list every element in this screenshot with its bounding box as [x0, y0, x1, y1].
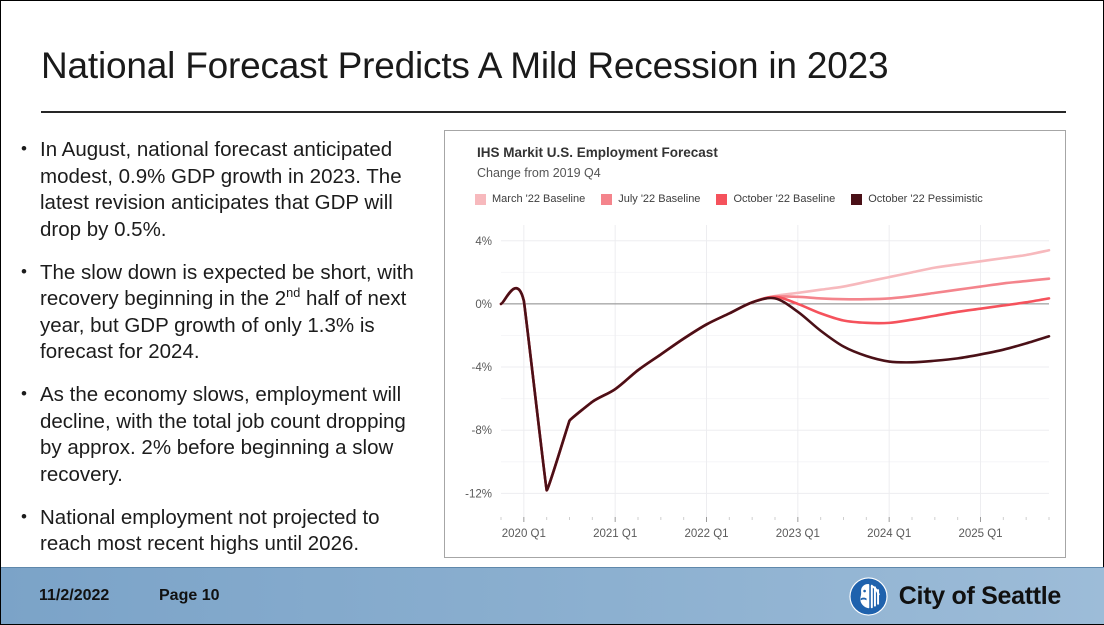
bullet-marker-icon: • [21, 260, 40, 284]
y-axis-tick-label: -4% [472, 362, 492, 374]
bullet-text: The slow down is expected be short, with… [40, 260, 431, 367]
slide-footer: 11/2/2022 Page 10 City of Seattle [1, 567, 1104, 624]
city-of-seattle-logo: City of Seattle [849, 577, 1061, 616]
legend-label: October '22 Pessimistic [868, 193, 983, 205]
bullet-marker-icon: • [21, 505, 40, 529]
x-axis-tick-label: 2025 Q1 [958, 528, 1002, 540]
bullet-marker-icon: • [21, 137, 40, 161]
legend-swatch-icon [475, 194, 486, 205]
y-axis-tick-label: 0% [475, 299, 492, 311]
bullet-recovery-2026: •National employment not projected to re… [21, 505, 431, 558]
legend-swatch-icon [851, 194, 862, 205]
x-axis-tick-label: 2020 Q1 [502, 528, 546, 540]
legend-item[interactable]: July '22 Baseline [601, 193, 700, 205]
page-title: National Forecast Predicts A Mild Recess… [41, 45, 1067, 87]
x-axis-tick-label: 2022 Q1 [684, 528, 728, 540]
y-axis-tick-label: 4% [475, 236, 492, 248]
bullet-text: As the economy slows, employment will de… [40, 382, 431, 489]
bullet-text: In August, national forecast anticipated… [40, 137, 431, 244]
x-axis-tick-label: 2023 Q1 [776, 528, 820, 540]
legend-item[interactable]: March '22 Baseline [475, 193, 585, 205]
chart-legend: March '22 BaselineJuly '22 BaselineOctob… [475, 193, 983, 205]
brand-text: City of Seattle [899, 582, 1061, 611]
title-block: National Forecast Predicts A Mild Recess… [41, 45, 1067, 87]
x-axis-tick-label: 2024 Q1 [867, 528, 911, 540]
footer-date: 11/2/2022 [39, 587, 109, 605]
chart-subtitle: Change from 2019 Q4 [477, 166, 601, 180]
title-divider [41, 111, 1066, 113]
chart-title: IHS Markit U.S. Employment Forecast [477, 145, 718, 160]
bullet-list: •In August, national forecast anticipate… [21, 137, 431, 574]
legend-swatch-icon [716, 194, 727, 205]
city-of-seattle-seal-icon [849, 577, 888, 616]
bullet-slowdown-short: •The slow down is expected be short, wit… [21, 260, 431, 367]
bullet-employment-decline: •As the economy slows, employment will d… [21, 382, 431, 489]
legend-item[interactable]: October '22 Pessimistic [851, 193, 983, 205]
bullet-marker-icon: • [21, 382, 40, 406]
slide-canvas: National Forecast Predicts A Mild Recess… [0, 0, 1104, 625]
legend-label: March '22 Baseline [492, 193, 585, 205]
x-axis-tick-label: 2021 Q1 [593, 528, 637, 540]
footer-page-number: Page 10 [159, 587, 219, 605]
legend-label: October '22 Baseline [733, 193, 835, 205]
bullet-gdp-forecast: •In August, national forecast anticipate… [21, 137, 431, 244]
legend-item[interactable]: October '22 Baseline [716, 193, 835, 205]
legend-label: July '22 Baseline [618, 193, 700, 205]
bullet-text: National employment not projected to rea… [40, 505, 431, 558]
legend-swatch-icon [601, 194, 612, 205]
y-axis-tick-label: -8% [472, 425, 492, 437]
chart-plot: 4%0%-4%-8%-12%2020 Q12021 Q12022 Q12023 … [445, 213, 1067, 557]
chart-panel: IHS Markit U.S. Employment Forecast Chan… [444, 130, 1066, 558]
y-axis-tick-label: -12% [465, 488, 492, 500]
